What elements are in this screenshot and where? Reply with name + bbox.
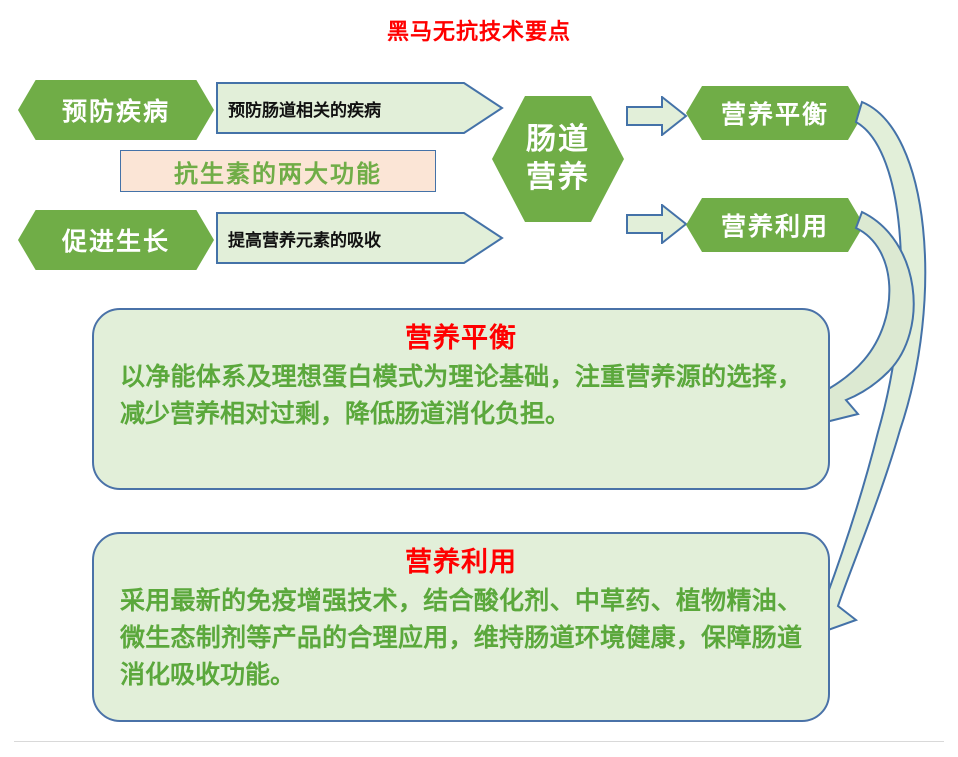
arrow-box-label-1: 预防肠道相关的疾病 [228, 82, 381, 134]
panel-nutrition-balance[interactable]: 营养平衡 以净能体系及理想蛋白模式为理论基础，注重营养源的选择，减少营养相对过剩… [92, 308, 830, 490]
antibiotic-two-functions-label: 抗生素的两大功能 [174, 154, 382, 189]
hex-promote-growth-label: 促进生长 [62, 222, 170, 258]
hex-nutrition-balance-label: 营养平衡 [721, 95, 829, 131]
hex-intestinal-nutrition-label: 肠道营养 [526, 121, 590, 197]
slide-canvas: 黑马无抗技术要点 预防疾病 促进生长 预防肠道相关的疾病 提高营养元素的吸收 抗… [0, 0, 958, 757]
hex-center-line1: 肠道 [526, 122, 590, 157]
hex-nutrition-utilization[interactable]: 营养利用 [686, 198, 864, 252]
panel-nutrition-utilization-title: 营养利用 [120, 546, 802, 580]
hex-promote-growth[interactable]: 促进生长 [18, 210, 214, 270]
panel-nutrition-utilization[interactable]: 营养利用 采用最新的免疫增强技术，结合酸化剂、中草药、植物精油、微生态制剂等产品… [92, 532, 830, 722]
panel-nutrition-balance-title: 营养平衡 [120, 322, 802, 356]
hex-prevent-disease[interactable]: 预防疾病 [18, 80, 214, 140]
right-arrow-icon-2 [626, 204, 688, 244]
panel-nutrition-utilization-body: 采用最新的免疫增强技术，结合酸化剂、中草药、植物精油、微生态制剂等产品的合理应用… [120, 582, 802, 693]
hex-nutrition-utilization-label: 营养利用 [721, 207, 829, 243]
hex-nutrition-balance[interactable]: 营养平衡 [686, 86, 864, 140]
bottom-divider [14, 741, 944, 742]
antibiotic-two-functions-box[interactable]: 抗生素的两大功能 [120, 150, 436, 192]
block-arrow-to-utilization [626, 204, 688, 244]
arrow-box-prevent-intestinal-disease[interactable]: 预防肠道相关的疾病 [216, 82, 504, 134]
right-arrow-icon-1 [626, 96, 688, 136]
hex-intestinal-nutrition[interactable]: 肠道营养 [492, 96, 624, 222]
hex-center-line2: 营养 [526, 160, 590, 195]
page-title: 黑马无抗技术要点 [0, 18, 958, 48]
block-arrow-to-balance [626, 96, 688, 136]
arrow-box-improve-nutrient-absorption[interactable]: 提高营养元素的吸收 [216, 212, 504, 264]
arrow-box-label-2: 提高营养元素的吸收 [228, 212, 381, 264]
hex-prevent-disease-label: 预防疾病 [62, 92, 170, 128]
panel-nutrition-balance-body: 以净能体系及理想蛋白模式为理论基础，注重营养源的选择，减少营养相对过剩，降低肠道… [120, 358, 802, 432]
